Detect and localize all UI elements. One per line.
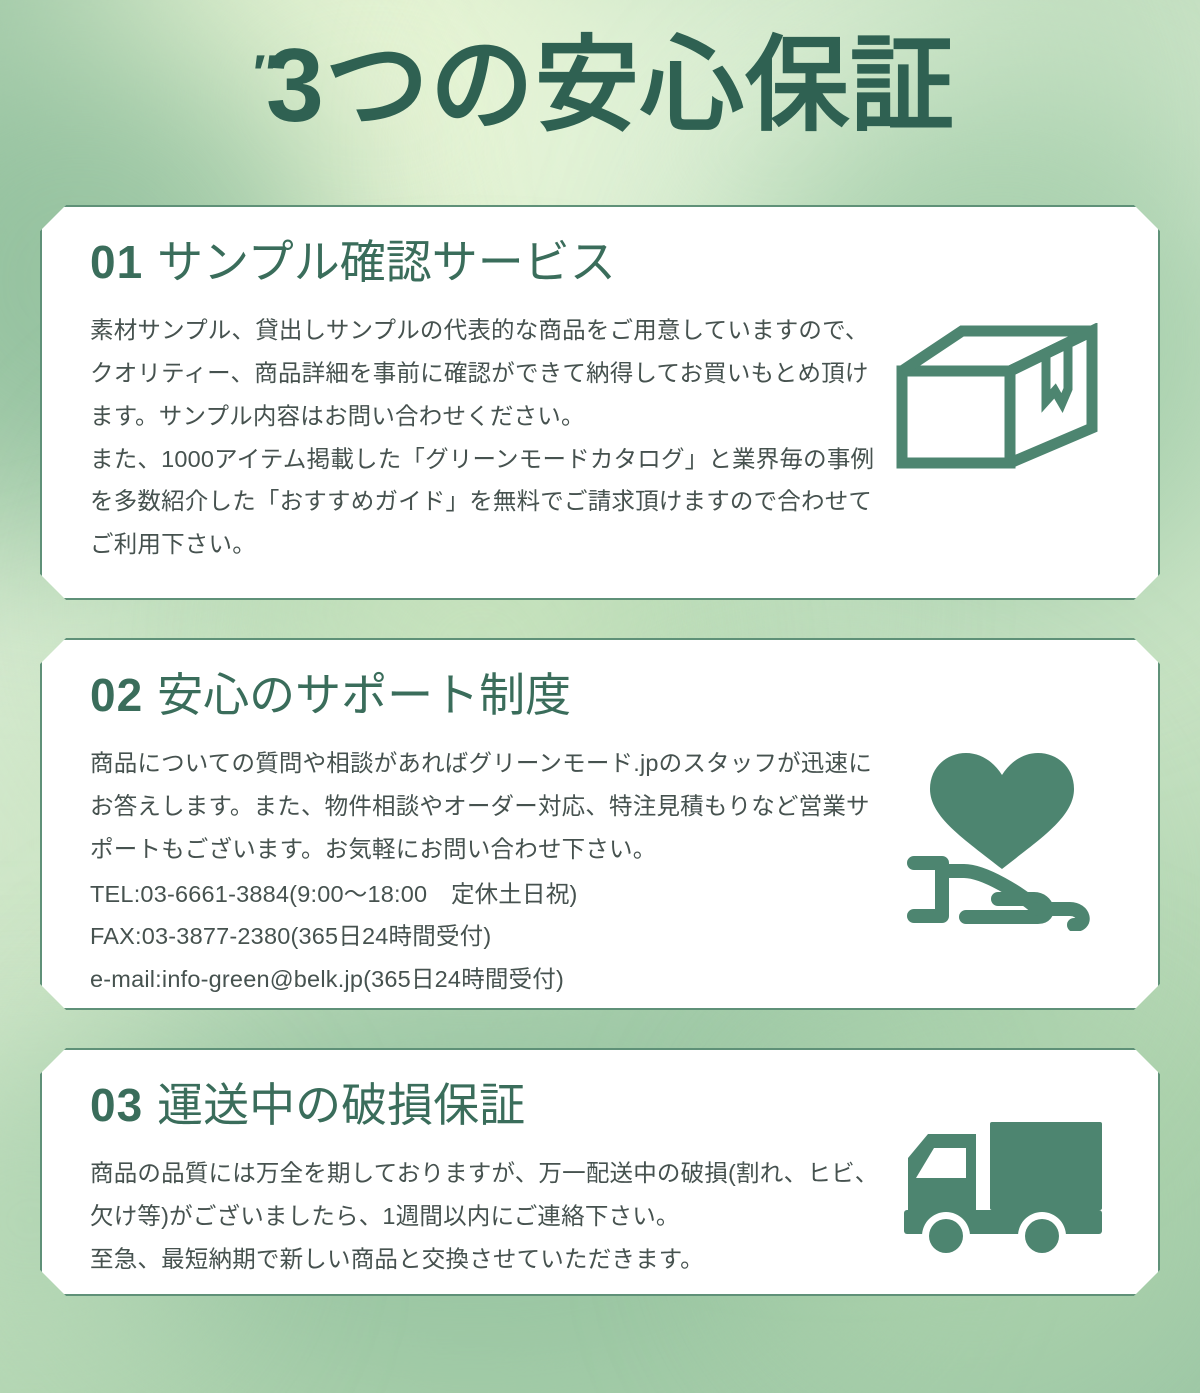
delivery-truck-icon (876, 1106, 1116, 1271)
guarantee-card-01: 01サンプル確認サービス 素材サンプル、貸出しサンプルの代表的な商品をご用意して… (40, 205, 1160, 600)
guarantee-section: ″3つの安心保証 01サンプル確認サービス 素材サンプル、貸出しサンプルの代表的… (0, 0, 1200, 1393)
card-paragraph: 素材サンプル、貸出しサンプルの代表的な商品をご用意していますので、クオリティー、… (90, 309, 890, 437)
card-heading-text-01: サンプル確認サービス (157, 236, 616, 288)
contact-fax: FAX:03-3877-2380(365日24時間受付) (90, 915, 890, 958)
contact-email[interactable]: e-mail:info-green@belk.jp(365日24時間受付) (90, 958, 890, 1001)
contact-info: TEL:03-6661-3884(9:00〜18:00 定休土日祝) FAX:0… (90, 873, 890, 1001)
card-content: 01サンプル確認サービス 素材サンプル、貸出しサンプルの代表的な商品をご用意して… (42, 207, 1158, 598)
card-paragraph: 商品についての質問や相談があればグリーンモード.jpのスタッフが迅速にお答えしま… (90, 742, 890, 870)
card-body-03: 商品の品質には万全を期しておりますが、万一配送中の破損(割れ、ヒビ、欠け等)がご… (90, 1152, 890, 1280)
page-title-text: 3つの安心保証 (266, 28, 955, 144)
card-heading-text-03: 運送中の破損保証 (157, 1079, 525, 1131)
card-number-01: 01 (90, 236, 143, 288)
card-number-02: 02 (90, 669, 143, 721)
guarantee-card-02: 02安心のサポート制度 商品についての質問や相談があればグリーンモード.jpのス… (40, 638, 1160, 1010)
title-accent-mark: ″ (253, 45, 274, 103)
guarantee-card-03: 03運送中の破損保証 商品の品質には万全を期しておりますが、万一配送中の破損(割… (40, 1048, 1160, 1296)
card-paragraph: 至急、最短納期で新しい商品と交換させていただきます。 (90, 1238, 890, 1281)
heart-in-hand-icon (892, 736, 1112, 936)
card-content: 03運送中の破損保証 商品の品質には万全を期しておりますが、万一配送中の破損(割… (42, 1050, 1158, 1294)
card-number-03: 03 (90, 1079, 143, 1131)
card-title-01: 01サンプル確認サービス (90, 235, 1114, 289)
cardboard-box-icon (882, 315, 1112, 485)
page-title: ″3つの安心保証 (0, 34, 1200, 138)
card-heading-text-02: 安心のサポート制度 (157, 669, 571, 721)
card-paragraph: 商品の品質には万全を期しておりますが、万一配送中の破損(割れ、ヒビ、欠け等)がご… (90, 1152, 890, 1238)
card-body-01: 素材サンプル、貸出しサンプルの代表的な商品をご用意していますので、クオリティー、… (90, 309, 890, 566)
card-title-02: 02安心のサポート制度 (90, 668, 1114, 722)
card-paragraph: また、1000アイテム掲載した「グリーンモードカタログ」と業界毎の事例を多数紹介… (90, 438, 890, 566)
card-content: 02安心のサポート制度 商品についての質問や相談があればグリーンモード.jpのス… (42, 640, 1158, 1008)
contact-tel: TEL:03-6661-3884(9:00〜18:00 定休土日祝) (90, 873, 890, 916)
card-body-02: 商品についての質問や相談があればグリーンモード.jpのスタッフが迅速にお答えしま… (90, 742, 890, 1001)
